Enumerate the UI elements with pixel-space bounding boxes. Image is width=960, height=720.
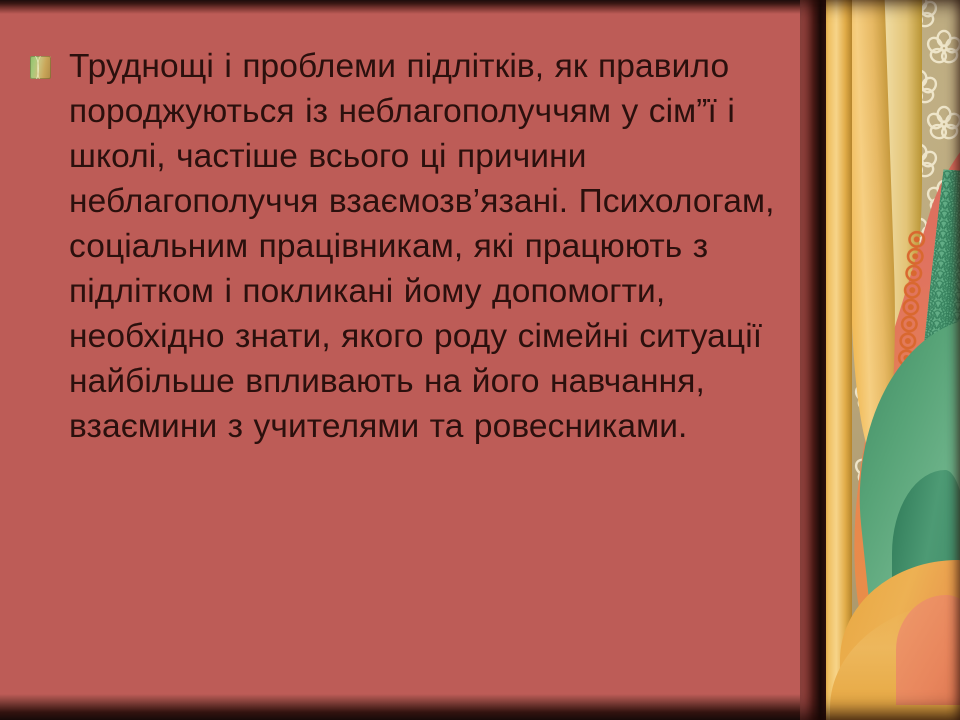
slide-content-area: Труднощі і проблеми підлітків, як правил… bbox=[0, 0, 812, 720]
body-text: Труднощі і проблеми підлітків, як правил… bbox=[69, 44, 790, 449]
panel-edge-shadow bbox=[800, 0, 826, 720]
decorative-side-panel bbox=[800, 0, 960, 720]
decorative-square-bullet-icon bbox=[30, 56, 51, 79]
gold-ribbon-outer bbox=[822, 0, 852, 720]
slide-canvas: Труднощі і проблеми підлітків, як правил… bbox=[0, 0, 960, 720]
bullet-paragraph: Труднощі і проблеми підлітків, як правил… bbox=[30, 44, 790, 449]
